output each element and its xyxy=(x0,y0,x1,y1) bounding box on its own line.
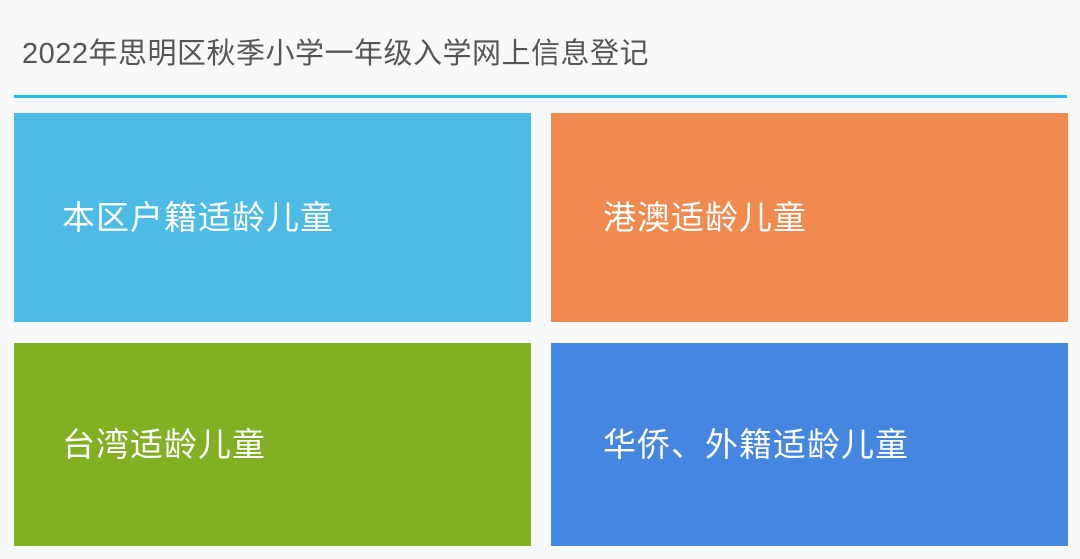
page-title: 2022年思明区秋季小学一年级入学网上信息登记 xyxy=(22,34,649,74)
category-card-grid: 本区户籍适龄儿童 港澳适龄儿童 台湾适龄儿童 华侨、外籍适龄儿童 xyxy=(14,113,1068,546)
category-card-label: 港澳适龄儿童 xyxy=(599,195,807,241)
title-divider xyxy=(14,95,1067,98)
category-card-taiwan[interactable]: 台湾适龄儿童 xyxy=(14,343,531,546)
category-card-label: 本区户籍适龄儿童 xyxy=(62,195,334,241)
registration-entry-page: 2022年思明区秋季小学一年级入学网上信息登记 本区户籍适龄儿童 港澳适龄儿童 … xyxy=(0,0,1080,559)
category-card-local-household[interactable]: 本区户籍适龄儿童 xyxy=(14,113,531,322)
category-card-label: 华侨、外籍适龄儿童 xyxy=(599,422,909,468)
category-card-overseas-foreign[interactable]: 华侨、外籍适龄儿童 xyxy=(551,343,1068,546)
category-card-label: 台湾适龄儿童 xyxy=(62,422,266,468)
category-card-hongkong-macao[interactable]: 港澳适龄儿童 xyxy=(551,113,1068,322)
